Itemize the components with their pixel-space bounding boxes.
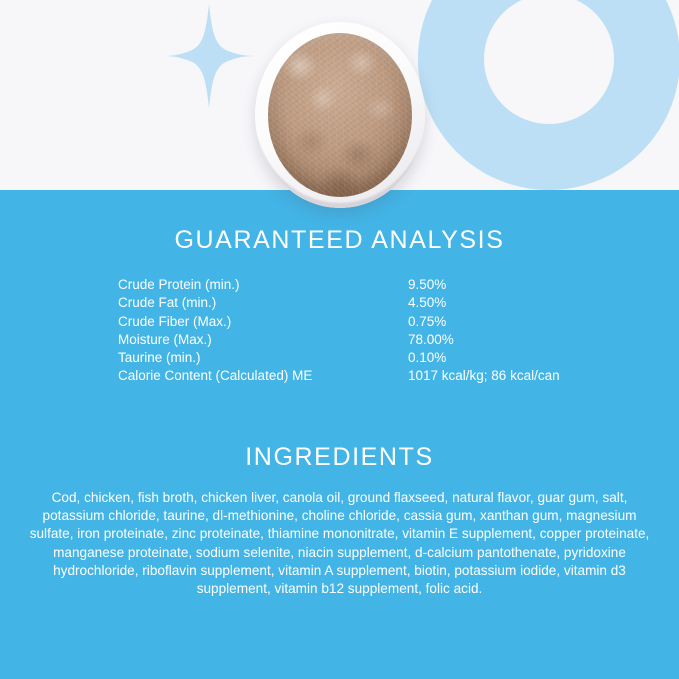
ring-decoration-icon: [418, 0, 679, 190]
blue-content-section: [0, 190, 679, 679]
nutrient-value: 9.50%: [408, 277, 446, 292]
nutrient-value: 0.75%: [408, 314, 446, 329]
table-row: Crude Fiber (Max.) 0.75%: [118, 314, 588, 332]
table-row: Moisture (Max.) 78.00%: [118, 332, 588, 350]
table-row: Crude Fat (min.) 4.50%: [118, 295, 588, 313]
nutrient-label: Crude Fiber (Max.): [118, 314, 408, 329]
ingredients-heading: INGREDIENTS: [0, 443, 679, 472]
guaranteed-analysis-heading: GUARANTEED ANALYSIS: [0, 226, 679, 255]
nutrient-label: Taurine (min.): [118, 350, 408, 365]
pate-texture: [268, 33, 413, 197]
pate-food: [268, 33, 413, 197]
product-image-bowl: [255, 22, 425, 208]
table-row: Taurine (min.) 0.10%: [118, 350, 588, 368]
nutrient-value: 0.10%: [408, 350, 446, 365]
nutrient-value: 78.00%: [408, 332, 454, 347]
table-row: Crude Protein (min.) 9.50%: [118, 277, 588, 295]
nutrient-value: 4.50%: [408, 295, 446, 310]
nutrient-value: 1017 kcal/kg; 86 kcal/can: [408, 368, 560, 383]
nutrient-label: Moisture (Max.): [118, 332, 408, 347]
guaranteed-analysis-table: Crude Protein (min.) 9.50% Crude Fat (mi…: [118, 277, 588, 387]
table-row: Calorie Content (Calculated) ME 1017 kca…: [118, 368, 588, 386]
nutrient-label: Crude Fat (min.): [118, 295, 408, 310]
product-info-panel: GUARANTEED ANALYSIS Crude Protein (min.)…: [0, 0, 679, 679]
sparkle-icon: [155, 2, 263, 110]
ingredients-paragraph: Cod, chicken, fish broth, chicken liver,…: [22, 489, 657, 598]
nutrient-label: Calorie Content (Calculated) ME: [118, 368, 408, 383]
nutrient-label: Crude Protein (min.): [118, 277, 408, 292]
